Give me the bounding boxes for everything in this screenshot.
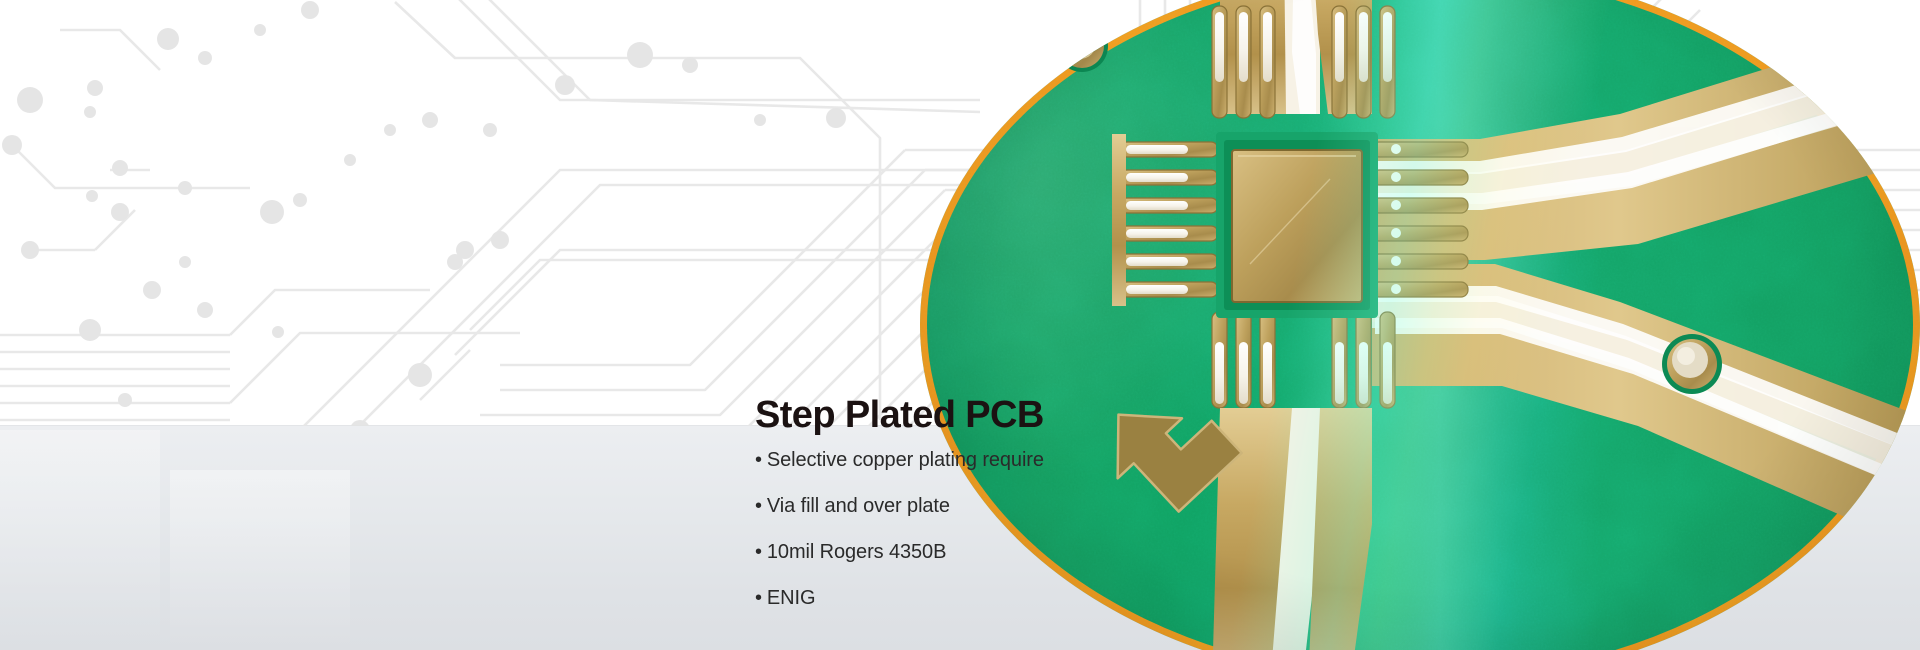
list-item: •Via fill and over plate (755, 496, 1315, 516)
bullet-icon: • (755, 541, 762, 563)
via-bottom-right (1662, 334, 1722, 394)
bullet-icon: • (755, 495, 762, 517)
via-top-left (1056, 20, 1108, 72)
pcb-banner: Step Plated PCB •Selective copper platin… (0, 0, 1920, 650)
list-item: •10mil Rogers 4350B (755, 542, 1315, 562)
list-item: •Selective copper plating require (755, 450, 1315, 470)
list-item-label: Via fill and over plate (767, 495, 950, 517)
banner-text-block: Step Plated PCB •Selective copper platin… (755, 396, 1315, 634)
feature-list: •Selective copper plating require •Via f… (755, 450, 1315, 608)
bullet-icon: • (755, 587, 762, 609)
list-item-label: 10mil Rogers 4350B (767, 541, 946, 563)
list-item-label: ENIG (767, 587, 816, 609)
bullet-icon: • (755, 449, 762, 471)
list-item: •ENIG (755, 588, 1315, 608)
list-item-label: Selective copper plating require (767, 449, 1044, 471)
page-title: Step Plated PCB (755, 396, 1315, 434)
